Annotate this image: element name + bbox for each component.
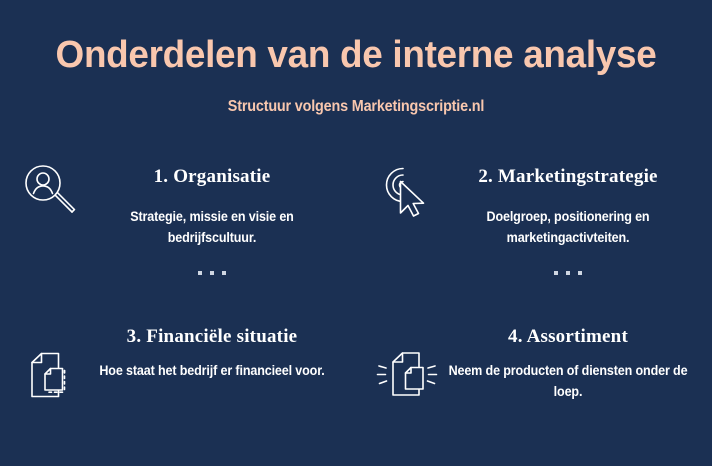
- magnifier-person-icon: [18, 158, 84, 224]
- cursor-click-icon: [374, 158, 440, 224]
- dot: [578, 271, 582, 275]
- item-title: 4. Assortiment: [434, 318, 702, 347]
- item-title: 2. Marketingstrategie: [434, 148, 702, 187]
- new-document-icon: [374, 346, 440, 412]
- dot: [222, 271, 226, 275]
- dot: [566, 271, 570, 275]
- page-subtitle: Structuur volgens Marketingscriptie.nl: [36, 76, 677, 116]
- item-card-assortiment: 4. Assortiment Neem de producten of dien…: [356, 318, 712, 466]
- item-description: Strategie, missie en visie en bedrijfscu…: [87, 187, 336, 249]
- dot: [554, 271, 558, 275]
- poster-header: Onderdelen van de interne analyse Struct…: [0, 0, 712, 116]
- item-title: 1. Organisatie: [78, 148, 346, 187]
- item-text-organisatie: 1. Organisatie Strategie, missie en visi…: [78, 148, 346, 275]
- ellipsis-dots: [434, 249, 702, 275]
- item-card-organisatie: 1. Organisatie Strategie, missie en visi…: [0, 148, 356, 318]
- item-title: 3. Financiële situatie: [78, 318, 346, 347]
- dot: [198, 271, 202, 275]
- item-card-financiele-situatie: 3. Financiële situatie Hoe staat het bed…: [0, 318, 356, 466]
- item-text-marketingstrategie: 2. Marketingstrategie Doelgroep, positio…: [434, 148, 702, 275]
- item-description: Doelgroep, positionering en marketingact…: [443, 187, 692, 249]
- item-description: Hoe staat het bedrijf er financieel voor…: [87, 347, 336, 382]
- dot: [210, 271, 214, 275]
- infographic-poster: Onderdelen van de interne analyse Struct…: [0, 0, 712, 466]
- ellipsis-dots: [78, 249, 346, 275]
- items-grid: 1. Organisatie Strategie, missie en visi…: [0, 148, 712, 466]
- document-copy-icon: [18, 346, 84, 412]
- page-title: Onderdelen van de interne analyse: [11, 0, 702, 76]
- item-text-assortiment: 4. Assortiment Neem de producten of dien…: [434, 318, 702, 403]
- item-description: Neem de producten of diensten onder de l…: [443, 347, 692, 403]
- item-card-marketingstrategie: 2. Marketingstrategie Doelgroep, positio…: [356, 148, 712, 318]
- item-text-financiele-situatie: 3. Financiële situatie Hoe staat het bed…: [78, 318, 346, 382]
